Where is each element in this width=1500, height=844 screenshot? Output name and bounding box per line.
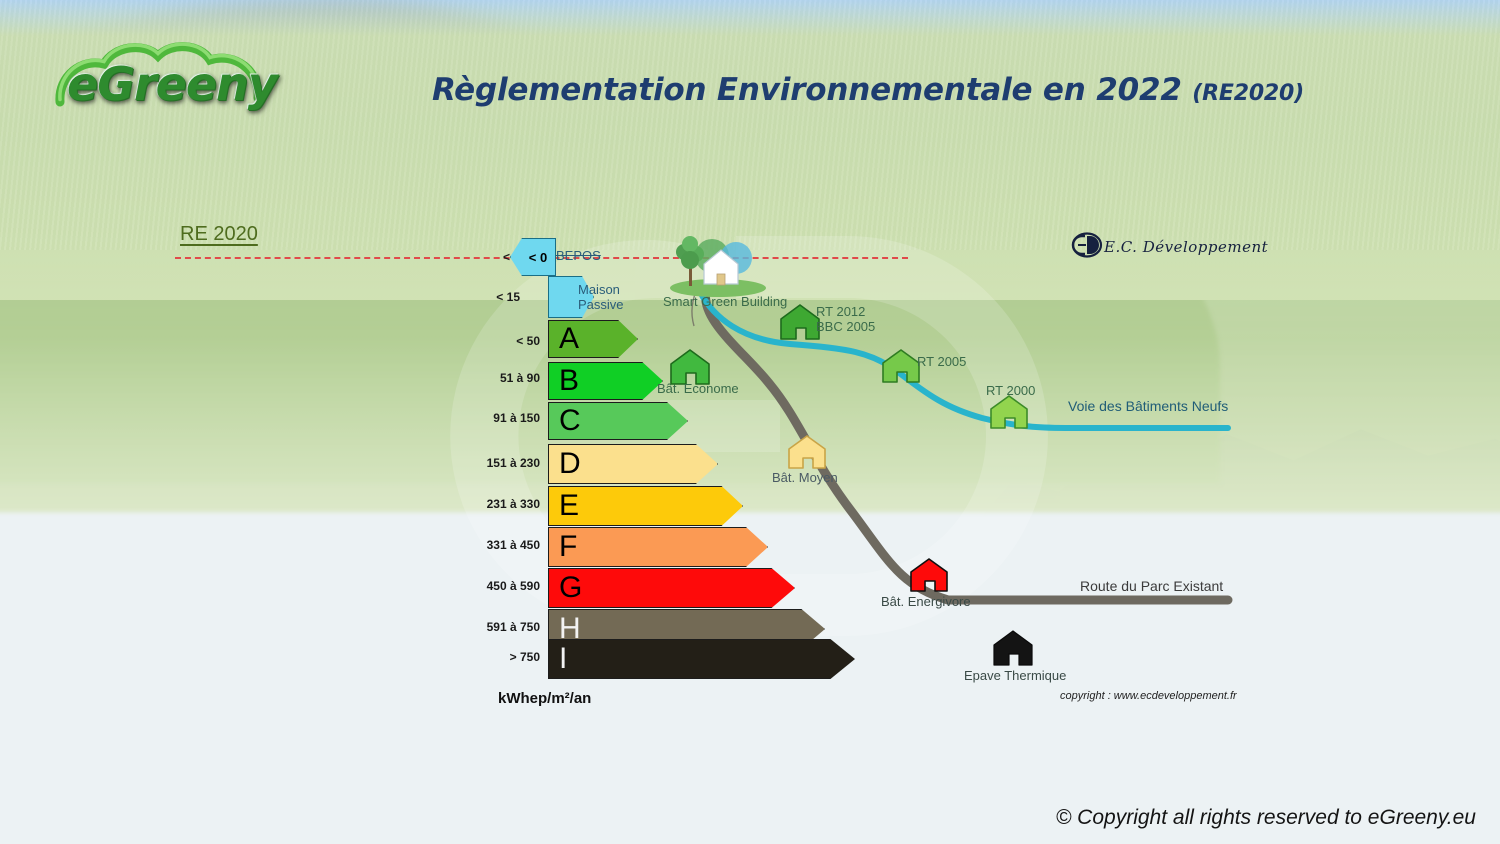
journey-paths [0,0,1500,844]
epave-thermique-label: Epave Thermique [964,668,1066,683]
rt2005-label: RT 2005 [917,354,966,369]
epave-thermique-icon[interactable] [991,629,1035,672]
rt2000-label: RT 2000 [986,383,1035,398]
rt2000-icon[interactable] [988,394,1030,435]
voie-batiments-neufs-label: Voie des Bâtiments Neufs [1068,398,1228,414]
footer-copyright: © Copyright all rights reserved to eGree… [1056,806,1476,830]
bat-moyen-label: Bât. Moyen [772,470,838,485]
ec-developpement-wordmark: E.C. Développement [1104,238,1268,256]
smart-green-building-art [664,234,776,296]
ec-developpement-logo[interactable] [1072,232,1102,263]
ec-developpement-copyright: copyright : www.ecdeveloppement.fr [1060,690,1237,702]
house-icon-energivore [908,557,950,593]
rt2012-label: RT 2012 [816,304,865,319]
bbc2005-label: BBC 2005 [816,319,875,334]
rt2005-icon[interactable] [880,348,922,389]
house-icon-epave [991,629,1035,667]
smart-green-building-icon[interactable] [664,234,776,301]
house-icon-rt2000 [988,394,1030,430]
route-parc-existant-label: Route du Parc Existant [1080,578,1223,594]
infographic-canvas: eGreeny Règlementation Environnementale … [0,0,1500,844]
bat-energivore-label: Bât. Energivore [881,594,971,609]
smart-green-building-label: Smart Green Building [663,294,787,309]
bat-energivore-icon[interactable] [908,557,950,598]
bat-moyen-icon[interactable] [786,434,828,475]
bat-econome-label: Bât. Econome [657,381,739,396]
house-icon-rt2005 [880,348,922,384]
house-icon-moyen [786,434,828,470]
ed-monogram-icon [1072,232,1102,258]
